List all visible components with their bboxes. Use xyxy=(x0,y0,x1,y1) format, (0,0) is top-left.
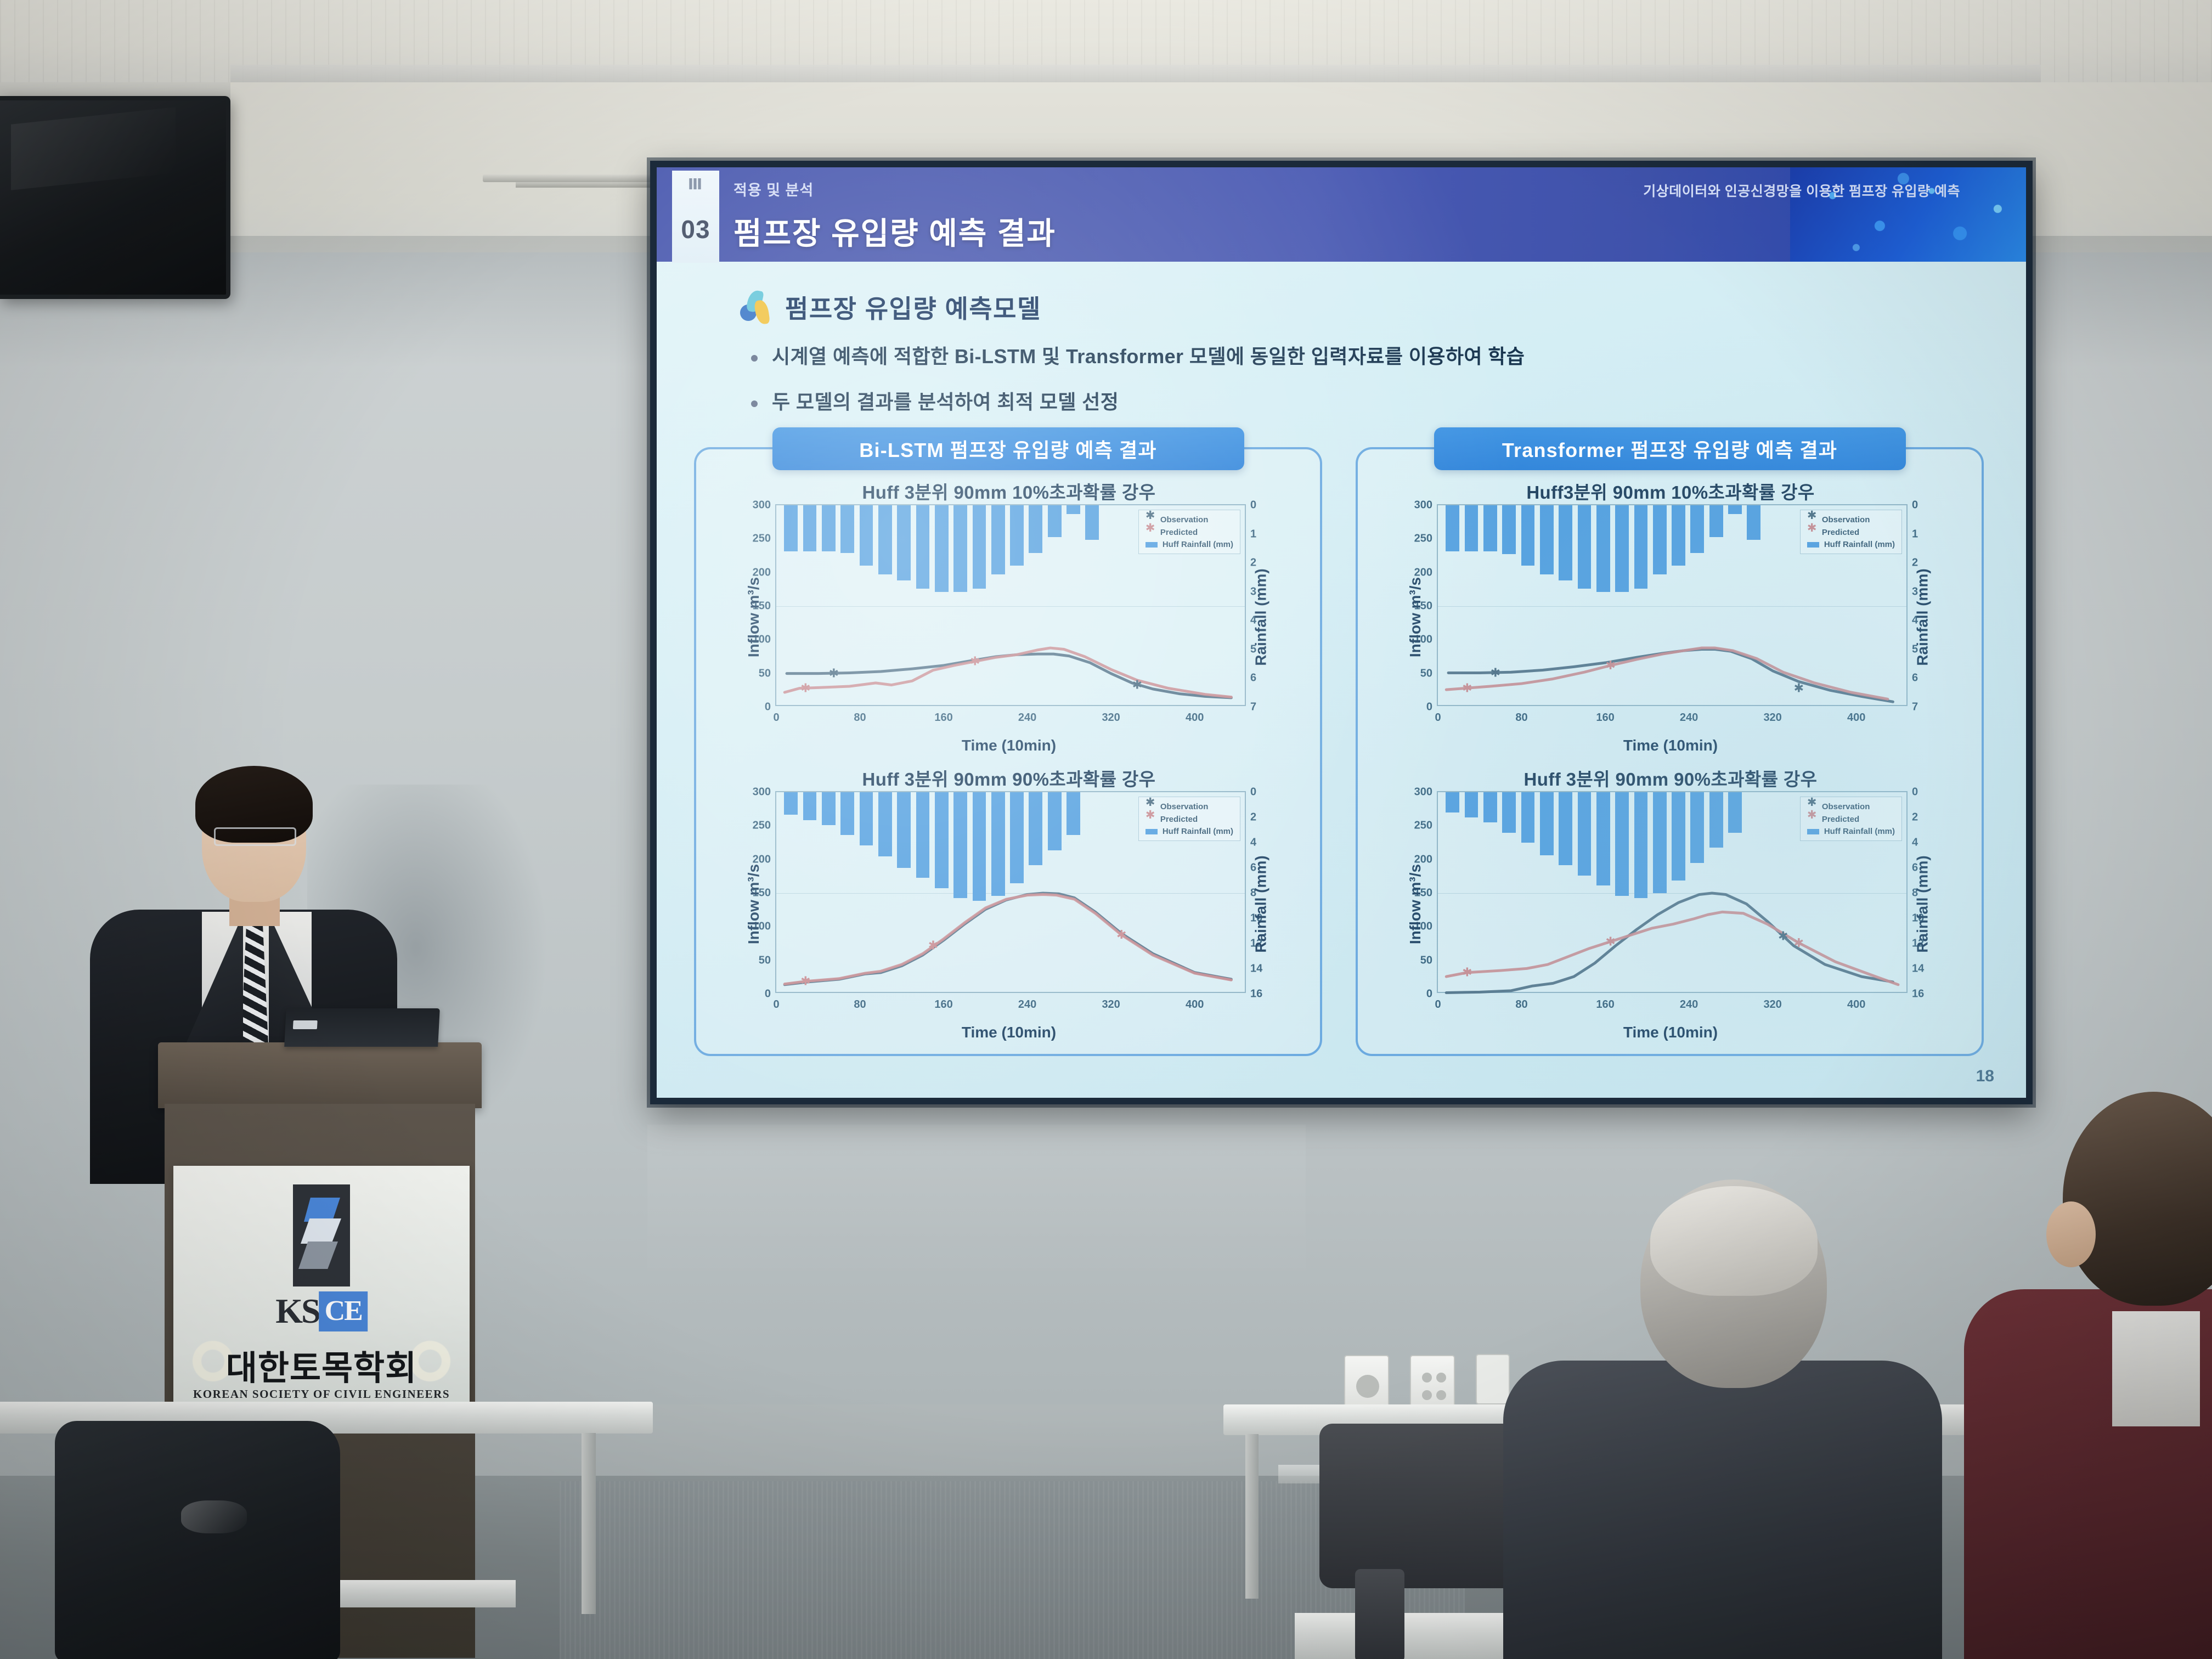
leaf-logo-icon xyxy=(739,290,773,324)
x-axis-tick: 80 xyxy=(1515,998,1527,1011)
legend-label: Observation xyxy=(1160,802,1209,811)
y2-axis-tick: 7 xyxy=(1912,701,1918,714)
y2-axis-tick: 2 xyxy=(1912,811,1918,824)
bullet-dot-icon xyxy=(751,400,758,407)
bullet-list: 시계열 예측에 적합한 Bi-LSTM 및 Transformer 모델에 동일… xyxy=(751,344,1985,435)
audience-person xyxy=(1503,1180,1942,1659)
legend-label: Huff Rainfall (mm) xyxy=(1163,540,1233,549)
chapter-number: 03 xyxy=(672,215,719,244)
bullet-text: 두 모델의 결과를 분석하여 최적 모델 선정 xyxy=(772,390,1119,414)
x-axis-label: Time (10min) xyxy=(1372,737,1969,754)
legend-entry: Observation xyxy=(1145,515,1233,524)
y2-axis-tick: 2 xyxy=(1912,557,1918,569)
series-line xyxy=(1446,648,1888,699)
x-axis-tick: 0 xyxy=(773,712,779,724)
x-axis-tick: 400 xyxy=(1847,712,1865,724)
y2-axis-tick: 6 xyxy=(1912,672,1918,685)
chart-bilstm-90pct: Huff 3분위 90mm 90%초과확률 강우 050100150200250… xyxy=(710,765,1307,1043)
x-axis-tick: 240 xyxy=(1680,712,1698,724)
chart-legend: ObservationPredictedHuff Rainfall (mm) xyxy=(1138,797,1240,841)
x-axis-tick: 320 xyxy=(1102,998,1120,1011)
y-axis-tick: 250 xyxy=(1414,533,1432,545)
data-point-marker: ✱ xyxy=(1794,936,1804,950)
x-axis-tick: 240 xyxy=(1018,998,1036,1011)
ksce-logo-icon xyxy=(293,1184,350,1286)
x-axis-tick: 160 xyxy=(934,712,952,724)
y2-axis-tick: 16 xyxy=(1250,988,1262,1001)
y2-axis-label: Rainfall (mm) xyxy=(1914,855,1931,952)
y2-axis-tick: 4 xyxy=(1912,837,1918,849)
series-line xyxy=(1446,912,1898,984)
y2-axis-tick: 1 xyxy=(1250,528,1256,540)
x-axis-tick: 160 xyxy=(934,998,952,1011)
y-axis-tick: 0 xyxy=(765,701,771,714)
legend-entry: Huff Rainfall (mm) xyxy=(1145,540,1233,549)
y-axis-label: Inflow m³/s xyxy=(745,577,763,657)
ceiling-beam xyxy=(230,65,2041,84)
legend-entry: Observation xyxy=(1145,802,1233,811)
legend-label: Huff Rainfall (mm) xyxy=(1824,827,1895,836)
chart-title: Huff 3분위 90mm 90%초과확률 강우 xyxy=(710,765,1307,791)
y2-axis-tick: 4 xyxy=(1250,837,1256,849)
chart-legend: ObservationPredictedHuff Rainfall (mm) xyxy=(1138,510,1240,554)
legend-label: Predicted xyxy=(1822,528,1859,537)
series-line xyxy=(1446,893,1893,993)
x-axis-tick: 400 xyxy=(1186,998,1204,1011)
y-axis-tick: 300 xyxy=(1414,499,1432,512)
x-axis-tick: 160 xyxy=(1596,712,1614,724)
bullet-dot-icon xyxy=(751,355,758,362)
y2-axis-label: Rainfall (mm) xyxy=(1914,568,1931,665)
x-axis-tick: 320 xyxy=(1102,712,1120,724)
slide-header: Ⅲ 03 적용 및 분석 펌프장 유입량 예측 결과 기상데이터와 인공신경망을… xyxy=(657,167,2026,262)
x-axis-tick: 160 xyxy=(1596,998,1614,1011)
data-point-marker: ✱ xyxy=(1778,929,1788,943)
legend-entry: Huff Rainfall (mm) xyxy=(1807,540,1895,549)
y2-axis-tick: 1 xyxy=(1912,528,1918,540)
ksce-ce-text: CE xyxy=(319,1291,368,1331)
data-point-marker: ✱ xyxy=(800,681,810,695)
ksce-wordmark: KS CE xyxy=(275,1291,368,1331)
presenter-laptop[interactable] xyxy=(284,1008,440,1047)
y-axis-tick: 50 xyxy=(1420,667,1432,680)
running-title: 기상데이터와 인공신경망을 이용한 펌프장 유입량 예측 xyxy=(1643,180,1960,200)
chart-bilstm-10pct: Huff 3분위 90mm 10%초과확률 강우 050100150200250… xyxy=(710,478,1307,757)
panel-bilstm: Bi-LSTM 펌프장 유입량 예측 결과 Huff 3분위 90mm 10%초… xyxy=(694,447,1322,1056)
legend-label: Observation xyxy=(1822,515,1870,524)
presentation-slide: Ⅲ 03 적용 및 분석 펌프장 유입량 예측 결과 기상데이터와 인공신경망을… xyxy=(657,167,2026,1098)
audience-person xyxy=(1964,1092,2212,1659)
society-name-english: KOREAN SOCIETY OF CIVIL ENGINEERS xyxy=(193,1387,450,1401)
data-point-marker: ✱ xyxy=(1794,681,1804,695)
star-marker-icon xyxy=(1807,527,1817,537)
y2-axis-tick: 16 xyxy=(1912,988,1924,1001)
projection-screen-frame: Ⅲ 03 적용 및 분석 펌프장 유입량 예측 결과 기상데이터와 인공신경망을… xyxy=(650,161,2033,1104)
legend-label: Observation xyxy=(1160,515,1209,524)
chart-legend: ObservationPredictedHuff Rainfall (mm) xyxy=(1800,797,1902,841)
data-point-marker: ✱ xyxy=(928,939,938,952)
y-axis-tick: 250 xyxy=(753,820,771,832)
x-axis-tick: 320 xyxy=(1763,712,1781,724)
legend-entry: Huff Rainfall (mm) xyxy=(1145,827,1233,836)
society-name-korean: 대한토목학회 xyxy=(226,1340,417,1390)
chart-legend: ObservationPredictedHuff Rainfall (mm) xyxy=(1800,510,1902,554)
x-axis-tick: 240 xyxy=(1680,998,1698,1011)
chapter-roman-numeral: Ⅲ xyxy=(672,175,719,193)
y2-axis-label: Rainfall (mm) xyxy=(1252,855,1269,952)
chart-title: Huff 3분위 90mm 90%초과확률 강우 xyxy=(1372,765,1969,791)
y2-axis-label: Rainfall (mm) xyxy=(1252,568,1269,665)
bullet-text: 시계열 예측에 적합한 Bi-LSTM 및 Transformer 모델에 동일… xyxy=(772,344,1525,369)
list-item: 시계열 예측에 적합한 Bi-LSTM 및 Transformer 모델에 동일… xyxy=(751,344,1985,369)
y2-axis-tick: 0 xyxy=(1912,499,1918,512)
star-marker-icon xyxy=(1145,527,1155,537)
data-point-marker: ✱ xyxy=(1605,658,1615,672)
y-axis-label: Inflow m³/s xyxy=(1407,864,1424,944)
y-axis-tick: 50 xyxy=(759,954,771,967)
y-axis-tick: 50 xyxy=(1420,954,1432,967)
y2-axis-tick: 2 xyxy=(1250,811,1256,824)
window-reflection xyxy=(647,1125,1306,1289)
y2-axis-tick: 14 xyxy=(1912,963,1924,975)
y-axis-label: Inflow m³/s xyxy=(1407,577,1424,657)
plot-area: 0501001502002503000123456708016024032040… xyxy=(1437,504,1908,706)
y-axis-label: Inflow m³/s xyxy=(745,864,763,944)
chart-title: Huff 3분위 90mm 10%초과확률 강우 xyxy=(710,478,1307,504)
series-line xyxy=(785,893,1231,985)
list-item: 두 모델의 결과를 분석하여 최적 모델 선정 xyxy=(751,390,1985,414)
plot-area: 0501001502002503000246810121416080160240… xyxy=(1437,791,1908,993)
y2-axis-tick: 6 xyxy=(1250,672,1256,685)
eyeglasses xyxy=(214,827,296,846)
y-axis-tick: 300 xyxy=(753,786,771,799)
x-axis-tick: 320 xyxy=(1763,998,1781,1011)
y-axis-tick: 300 xyxy=(753,499,771,512)
y2-axis-tick: 0 xyxy=(1250,786,1256,799)
plot-area: 0501001502002503000123456708016024032040… xyxy=(775,504,1246,706)
ceiling-monitor xyxy=(0,96,230,299)
series-line xyxy=(785,894,1231,984)
series-line xyxy=(787,654,1231,698)
plot-area: 0501001502002503000246810121416080160240… xyxy=(775,791,1246,993)
y-axis-tick: 250 xyxy=(753,533,771,545)
legend-swatch-icon xyxy=(1145,542,1158,548)
x-axis-tick: 240 xyxy=(1018,712,1036,724)
legend-entry: Predicted xyxy=(1145,527,1233,537)
x-axis-tick: 0 xyxy=(1435,998,1441,1011)
backpack xyxy=(55,1421,340,1659)
y-axis-tick: 50 xyxy=(759,667,771,680)
desk-leg xyxy=(582,1433,596,1614)
y-axis-tick: 0 xyxy=(1426,701,1432,714)
data-point-marker: ✱ xyxy=(1462,966,1472,979)
panel-badge-bilstm: Bi-LSTM 펌프장 유입량 예측 결과 xyxy=(772,427,1244,470)
series-line xyxy=(1448,650,1893,702)
legend-entry: Observation xyxy=(1807,515,1895,524)
legend-entry: Observation xyxy=(1807,802,1895,811)
data-point-marker: ✱ xyxy=(829,667,839,680)
panel-transformer: Transformer 펌프장 유입량 예측 결과 Huff3분위 90mm 1… xyxy=(1356,447,1984,1056)
data-point-marker: ✱ xyxy=(1605,934,1615,948)
data-point-marker: ✱ xyxy=(1491,665,1500,679)
legend-swatch-icon xyxy=(1145,829,1158,834)
chart-title: Huff3분위 90mm 10%초과확률 강우 xyxy=(1372,478,1969,504)
chart-transformer-90pct: Huff 3분위 90mm 90%초과확률 강우 050100150200250… xyxy=(1372,765,1969,1043)
legend-label: Huff Rainfall (mm) xyxy=(1163,827,1233,836)
y2-axis-tick: 14 xyxy=(1250,963,1262,975)
x-axis-tick: 400 xyxy=(1186,712,1204,724)
legend-entry: Predicted xyxy=(1807,527,1895,537)
chair xyxy=(1355,1569,1404,1659)
y-axis-tick: 250 xyxy=(1414,820,1432,832)
x-axis-tick: 400 xyxy=(1847,998,1865,1011)
lecture-room-photo: Ⅲ 03 적용 및 분석 펌프장 유입량 예측 결과 기상데이터와 인공신경망을… xyxy=(0,0,2212,1659)
star-marker-icon xyxy=(1145,814,1155,824)
y-axis-tick: 0 xyxy=(765,988,771,1001)
panel-badge-transformer: Transformer 펌프장 유입량 예측 결과 xyxy=(1434,427,1906,470)
star-marker-icon xyxy=(1807,814,1817,824)
y2-axis-tick: 0 xyxy=(1912,786,1918,799)
x-axis-label: Time (10min) xyxy=(710,737,1307,754)
x-axis-tick: 80 xyxy=(854,998,866,1011)
legend-label: Predicted xyxy=(1160,528,1198,537)
data-point-marker: ✱ xyxy=(1132,678,1142,692)
slide-title: 펌프장 유입량 예측 결과 xyxy=(733,209,1056,253)
y-axis-tick: 0 xyxy=(1426,988,1432,1001)
chart-transformer-10pct: Huff3분위 90mm 10%초과확률 강우 0501001502002503… xyxy=(1372,478,1969,757)
x-axis-tick: 0 xyxy=(773,998,779,1011)
x-axis-label: Time (10min) xyxy=(710,1024,1307,1041)
legend-label: Predicted xyxy=(1822,815,1859,824)
y2-axis-tick: 7 xyxy=(1250,701,1256,714)
legend-swatch-icon xyxy=(1807,829,1819,834)
x-axis-tick: 0 xyxy=(1435,712,1441,724)
y2-axis-tick: 2 xyxy=(1250,557,1256,569)
data-point-marker: ✱ xyxy=(1462,681,1472,695)
section-heading: 펌프장 유입량 예측모델 xyxy=(739,289,1041,325)
legend-label: Observation xyxy=(1822,802,1870,811)
chapter-label: 적용 및 분석 xyxy=(733,178,814,200)
legend-label: Huff Rainfall (mm) xyxy=(1824,540,1895,549)
podium-banner: KS CE 대한토목학회 KOREAN SOCIETY OF CIVIL ENG… xyxy=(173,1166,470,1424)
data-point-marker: ✱ xyxy=(1116,928,1126,941)
desk-leg xyxy=(1245,1434,1259,1599)
legend-entry: Huff Rainfall (mm) xyxy=(1807,827,1895,836)
x-axis-label: Time (10min) xyxy=(1372,1024,1969,1041)
legend-swatch-icon xyxy=(1807,542,1819,548)
slide-page-number: 18 xyxy=(1976,1067,1994,1086)
data-point-marker: ✱ xyxy=(970,654,980,668)
data-point-marker: ✱ xyxy=(800,974,810,988)
legend-entry: Predicted xyxy=(1807,814,1895,824)
projection-screen: Ⅲ 03 적용 및 분석 펌프장 유입량 예측 결과 기상데이터와 인공신경망을… xyxy=(657,167,2026,1098)
x-axis-tick: 80 xyxy=(854,712,866,724)
legend-label: Predicted xyxy=(1160,815,1198,824)
section-heading-label: 펌프장 유입량 예측모델 xyxy=(785,289,1041,325)
y2-axis-tick: 0 xyxy=(1250,499,1256,512)
legend-entry: Predicted xyxy=(1145,814,1233,824)
x-axis-tick: 80 xyxy=(1515,712,1527,724)
ksce-ks-text: KS xyxy=(275,1291,319,1331)
y-axis-tick: 300 xyxy=(1414,786,1432,799)
